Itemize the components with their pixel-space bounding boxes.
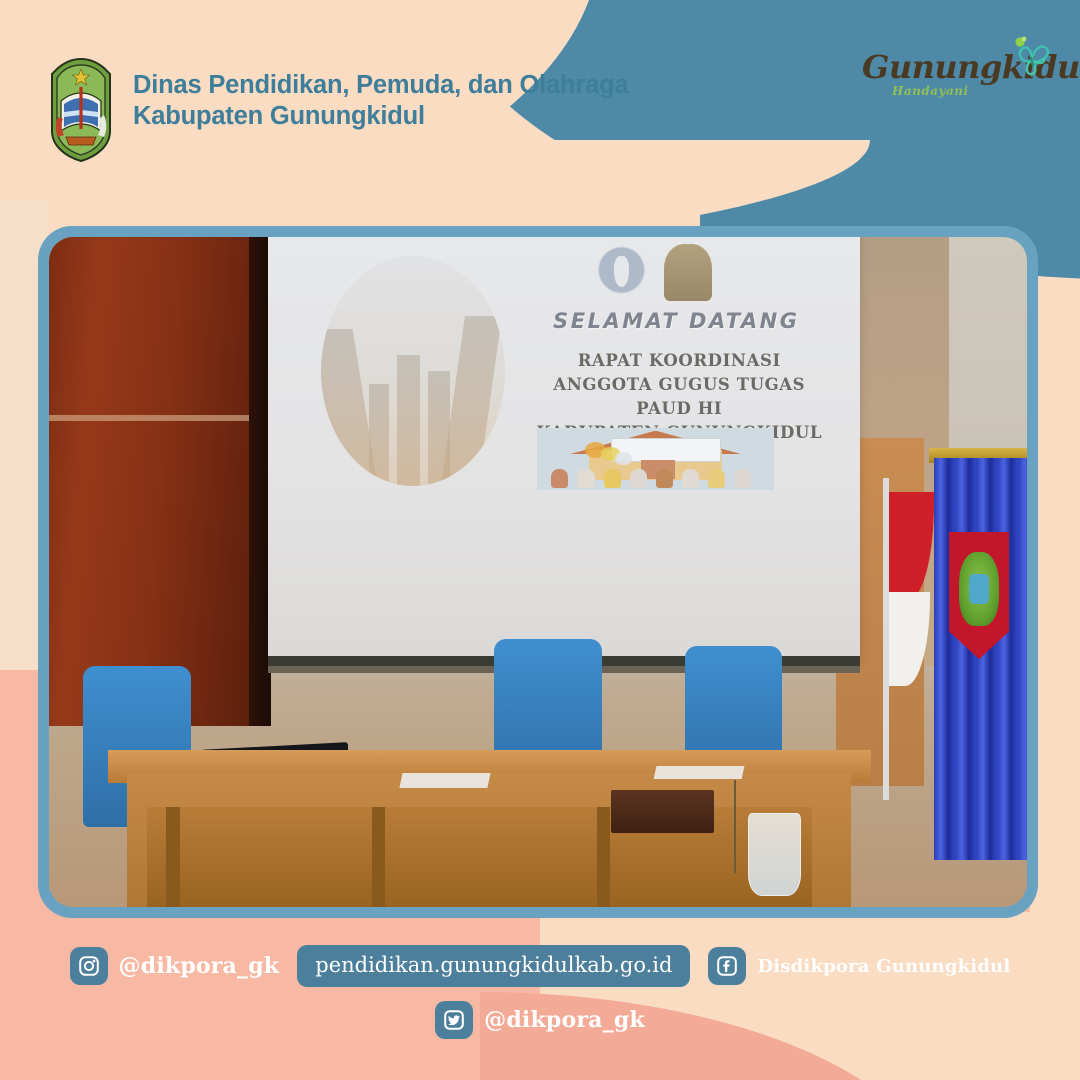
table-leg bbox=[166, 807, 180, 908]
facebook-chip[interactable]: Disdikpora Gunungkidul bbox=[708, 947, 1010, 985]
wooden-door bbox=[49, 237, 249, 726]
school-house-children-illustration bbox=[537, 428, 774, 490]
kabupaten-gunungkidul-logo-icon bbox=[664, 244, 712, 301]
poster-header: Dinas Pendidikan, Pemuda, dan Olahraga K… bbox=[0, 0, 1080, 200]
gunungkidul-regency-emblem-icon bbox=[44, 57, 118, 163]
department-title-line1: Dinas Pendidikan, Pemuda, dan Olahraga bbox=[133, 71, 628, 99]
butterfly-flourish-icon bbox=[1007, 32, 1055, 80]
slide-subheading-line1: RAPAT KOORDINASI bbox=[528, 349, 830, 373]
twitter-chip[interactable]: @dikpora_gk bbox=[435, 1001, 645, 1039]
pennant-emblem-icon bbox=[959, 552, 999, 626]
footer-row-secondary: @dikpora_gk bbox=[0, 994, 1080, 1046]
twitter-handle[interactable]: @dikpora_gk bbox=[484, 1007, 645, 1033]
projector-screen: SELAMAT DATANG RAPAT KOORDINASI ANGGOTA … bbox=[268, 237, 860, 656]
instagram-icon[interactable] bbox=[70, 947, 108, 985]
meeting-photo: SELAMAT DATANG RAPAT KOORDINASI ANGGOTA … bbox=[49, 237, 1027, 907]
blue-curtain bbox=[934, 458, 1027, 860]
table-leg bbox=[372, 807, 386, 908]
twitter-icon[interactable] bbox=[435, 1001, 473, 1039]
slide-heading: SELAMAT DATANG bbox=[546, 309, 806, 333]
department-title: Dinas Pendidikan, Pemuda, dan Olahraga K… bbox=[133, 70, 628, 132]
presentation-slide: SELAMAT DATANG RAPAT KOORDINASI ANGGOTA … bbox=[268, 237, 860, 656]
drink-cup bbox=[748, 813, 801, 895]
table-podium-box bbox=[611, 790, 714, 834]
slide-logos bbox=[582, 243, 724, 303]
skyscrapers-circle-photo bbox=[321, 256, 504, 486]
website-url-badge[interactable]: pendidikan.gunungkidulkab.go.id bbox=[297, 945, 690, 987]
poster-canvas: Dinas Pendidikan, Pemuda, dan Olahraga K… bbox=[0, 0, 1080, 1080]
footer-row-primary: @dikpora_gk pendidikan.gunungkidulkab.go… bbox=[0, 938, 1080, 994]
tut-wuri-handayani-logo-icon bbox=[590, 243, 652, 303]
papers bbox=[654, 766, 745, 779]
department-title-line2: Kabupaten Gunungkidul bbox=[133, 101, 628, 132]
papers bbox=[400, 773, 491, 788]
microphone-cable bbox=[734, 780, 736, 874]
brand-tagline: Handayani bbox=[892, 84, 969, 98]
poster-footer: @dikpora_gk pendidikan.gunungkidulkab.go… bbox=[0, 938, 1080, 1080]
slide-subheading-line2: ANGGOTA GUGUS TUGAS PAUD HI bbox=[528, 373, 830, 421]
door-rail bbox=[49, 415, 249, 421]
gunungkidul-brand-logo: Gunungkidul Handayani bbox=[862, 48, 1047, 112]
facebook-icon[interactable] bbox=[708, 947, 746, 985]
table-leg bbox=[597, 807, 611, 908]
photo-frame: SELAMAT DATANG RAPAT KOORDINASI ANGGOTA … bbox=[38, 226, 1038, 918]
facebook-page-name[interactable]: Disdikpora Gunungkidul bbox=[757, 956, 1010, 977]
instagram-handle[interactable]: @dikpora_gk bbox=[119, 953, 280, 979]
instagram-chip[interactable]: @dikpora_gk bbox=[70, 947, 280, 985]
